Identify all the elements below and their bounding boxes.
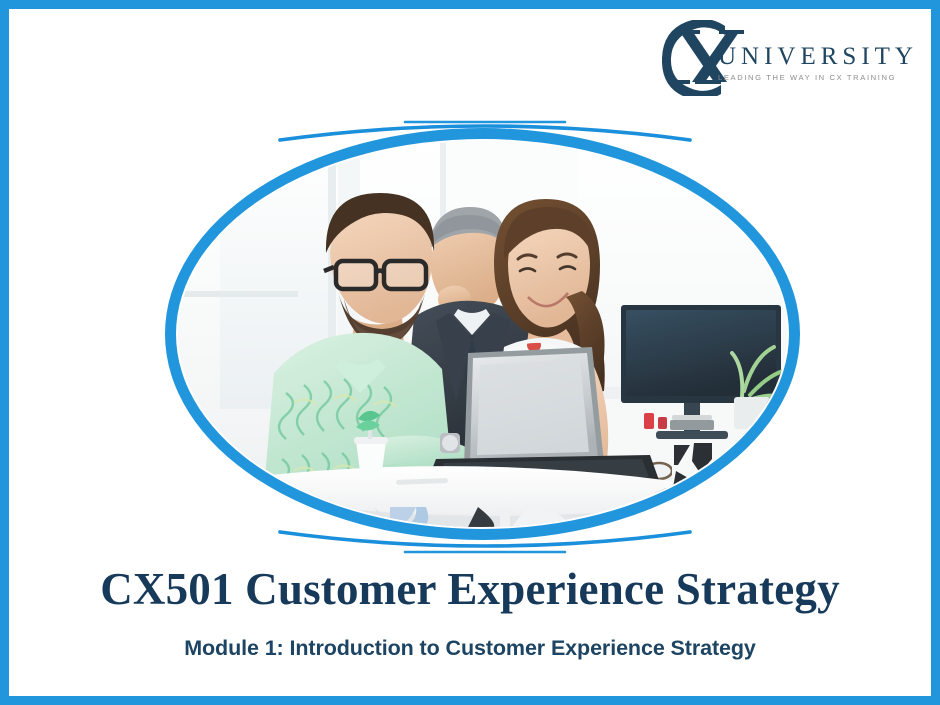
title-slide: CX501 Customer Experience Strategy Modul… xyxy=(0,0,940,705)
logo-wordmark: UNIVERSITY LEADING THE WAY IN CX TRAININ… xyxy=(718,44,910,82)
crossed-lines-decoration-top xyxy=(270,108,700,142)
photo-clip-mask xyxy=(178,141,787,527)
module-subtitle: Module 1: Introduction to Customer Exper… xyxy=(0,636,940,662)
logo-tagline-text: LEADING THE WAY IN CX TRAINING xyxy=(718,74,910,82)
office-scene-illustration xyxy=(178,141,787,527)
cx-university-logo: UNIVERSITY LEADING THE WAY IN CX TRAININ… xyxy=(662,20,910,96)
hero-photo xyxy=(165,128,800,540)
logo-university-text: UNIVERSITY xyxy=(718,44,910,69)
crossed-lines-decoration-bottom xyxy=(270,530,700,564)
page-title: CX501 Customer Experience Strategy xyxy=(0,566,940,614)
